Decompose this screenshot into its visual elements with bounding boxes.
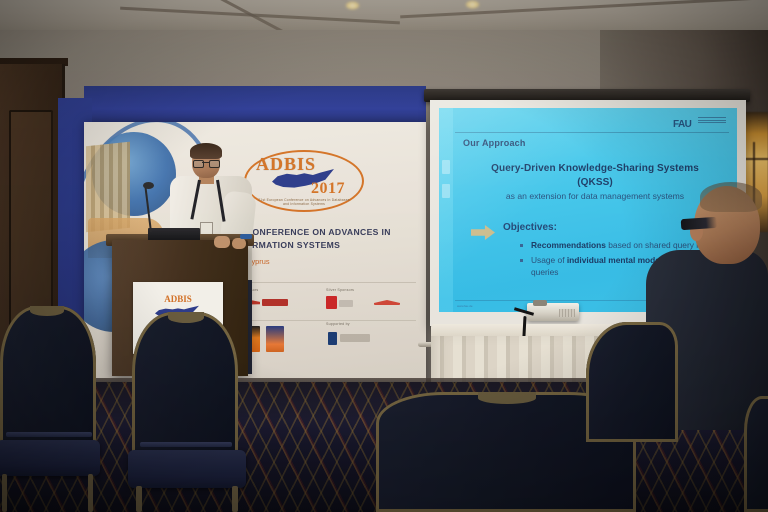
conference-photo: ADBIS 2017 21st European Conference on A… [0,0,768,512]
microphone-icon [143,182,154,189]
sponsor-logo-p-wordmark [339,300,353,307]
sponsor-logo-p [326,296,337,309]
projector[interactable] [527,303,579,321]
audience-member-hair [700,182,762,212]
slide-objectives-label: Objectives: [503,222,557,233]
slide-title: Our Approach [463,138,526,148]
slide-heading-line2: (QKSS) [467,176,723,190]
sponsor-label-supported: Supported by [326,322,350,326]
arrow-bullet-icon [471,225,495,240]
slide-footer-left: www.fau.de [457,304,473,308]
sponsor-logo-wordmark [262,299,288,306]
supporter-logo-4-wordmark [340,334,370,342]
door-panel [9,110,53,330]
podium-sign-logo: ADBIS [141,294,215,304]
slide-heading-line1: Query-Driven Knowledge-Sharing Systems [467,162,723,176]
supporter-logo-3 [266,326,284,352]
ceiling-spotlight-icon [465,0,480,9]
projector-lens-icon [533,300,547,306]
slide-sidebar [439,108,453,312]
fau-logo-text: FAU [673,119,691,130]
ceiling-spotlight-icon [345,1,360,10]
speaker-glasses-icon [193,160,218,166]
banner-top-blue [84,86,426,124]
speaker-hand [232,238,246,249]
adbis-logo-year: 2017 [311,180,345,198]
speaker-hair [190,143,222,159]
slide-header-rule [455,132,729,133]
wristwatch [240,234,252,239]
slide-subheading: as an extension for data management syst… [467,190,723,202]
sponsor-logo-wave [374,300,400,305]
slide-bullet-bold: Recommendations [531,240,606,250]
projector-vent [559,309,575,317]
fau-logo-lines [698,117,726,125]
adbis-logo-tagline: 21st European Conference on Advances in … [256,198,352,206]
adbis-logo-text: ADBIS [256,154,316,175]
slide-bullet-pre: Usage of [531,255,567,265]
sponsor-label-silver: Silver Sponsors [326,288,354,292]
speaker-hand [214,236,230,248]
fau-logo: FAU [673,114,727,128]
slide-heading: Query-Driven Knowledge-Sharing Systems (… [467,162,723,190]
slide-sidebar-tab [442,184,450,198]
supporter-logo-4 [328,332,337,345]
slide-sidebar-tab [442,160,450,174]
